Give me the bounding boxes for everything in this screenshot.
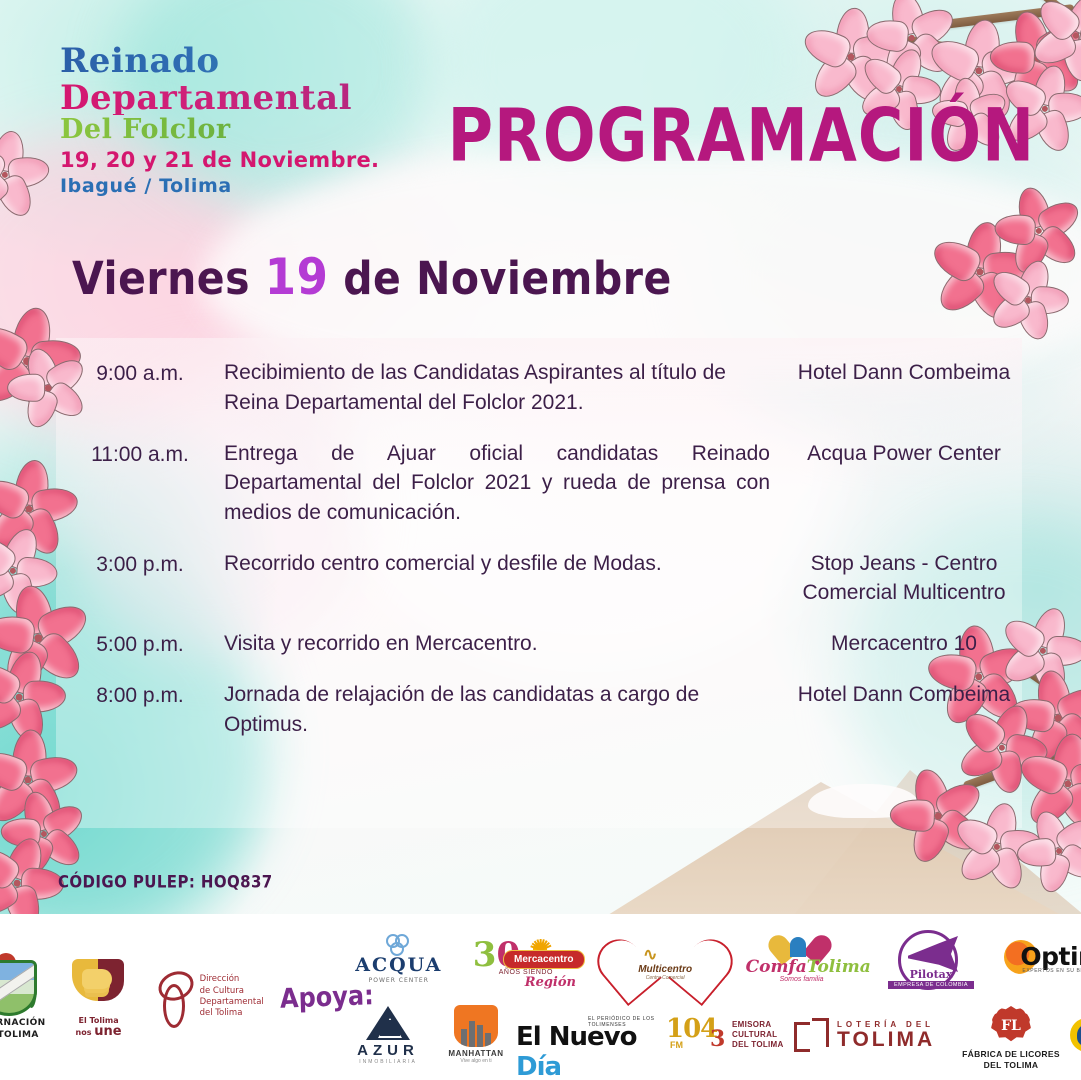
pilotax-slogan: EMPRESA DE COLOMBIA (888, 981, 974, 989)
acqua-name: ACQUA (355, 956, 442, 976)
sponsor-row-1: ACQUA POWER CENTER 30 Mercacentro AÑOS S… (340, 923, 1081, 995)
sponsor-acqua: ACQUA POWER CENTER (355, 934, 442, 984)
sponsor-mercacentro: 30 Mercacentro AÑOS SIENDO Región (473, 928, 585, 990)
schedule-time: 3:00 p.m. (56, 549, 224, 579)
day-suffix: de Noviembre (343, 252, 672, 305)
azur-name: AZUR (340, 1042, 436, 1059)
schedule-description: Entrega de Ajuar oficial candidatas Rein… (224, 439, 782, 528)
gobernacion-line1: GOBERNACIÓN (0, 1019, 46, 1028)
shield-icon (0, 954, 37, 1016)
logo-city: Ibagué / Tolima (60, 175, 379, 197)
schedule-description: Jornada de relajación de las candidatas … (224, 680, 782, 740)
schedule-venue: Hotel Dann Combeima (782, 680, 1026, 709)
sponsor-azur: AZUR INMOBILIARIA (340, 1006, 436, 1064)
gobernacion-line2: DEL TOLIMA (0, 1031, 39, 1040)
schedule-venue: Acqua Power Center (782, 439, 1026, 468)
poster-canvas: Reinado Departamental Del Folclor 19, 20… (0, 0, 1081, 1080)
logo-dates: 19, 20 y 21 de Noviembre. (60, 148, 379, 172)
pulep-code: CÓDIGO PULEP: HOQ837 (58, 872, 273, 892)
schedule-description: Recorrido centro comercial y desfile de … (224, 549, 782, 579)
event-logo: Reinado Departamental Del Folclor 19, 20… (60, 44, 379, 197)
une-line2: nos (76, 1028, 92, 1037)
manhattan-sub: Vive algo en ti (436, 1058, 516, 1064)
seal-icon: FL (991, 1006, 1031, 1046)
day-number: 19 (265, 248, 329, 306)
licores-line2: DEL TOLIMA (952, 1060, 1070, 1071)
sponsor-row-2: AZUR INMOBILIARIA MANHATTAN Vive algo en… (340, 999, 1081, 1071)
schedule-venue: Mercacentro 10 (782, 629, 1026, 658)
schedule-description: Recibimiento de las Candidatas Aspirante… (224, 358, 782, 418)
comfatolima-name: ComfaTolima (746, 957, 858, 977)
logo-line-departamental: Departamental (60, 81, 379, 116)
manhattan-name: MANHATTAN (436, 1049, 516, 1058)
sponsor-camara-comercio: CCI CAMARA DE COMERCIO DE IBAGUÉ TRABAJA… (1070, 1012, 1081, 1058)
radio-name: EMISORA CULTURAL DEL TOLIMA (732, 1020, 794, 1050)
schedule-row: 3:00 p.m.Recorrido centro comercial y de… (56, 549, 1026, 608)
sponsor-manhattan: MANHATTAN Vive algo en ti (436, 1005, 516, 1065)
tolima-une-text: El Tolima nos une (76, 1017, 122, 1039)
schedule-venue: Hotel Dann Combeima (782, 358, 1026, 387)
sponsor-emisora-cultural: 104 3 FM EMISORA CULTURAL DEL TOLIMA (666, 1010, 794, 1060)
logo-line-reinado: Reinado (60, 44, 379, 79)
mercacentro-rays-icon (523, 930, 559, 950)
dircult-line4: del Tolima (200, 1008, 264, 1019)
day-prefix: Viernes (72, 252, 250, 305)
une-line3: une (94, 1024, 121, 1039)
mercacentro-name: Mercacentro (503, 950, 585, 969)
comfatolima-slogan: Somos familia (746, 976, 858, 983)
schedule-row: 5:00 p.m.Visita y recorrido en Mercacent… (56, 629, 1026, 659)
sponsor-pilotax: Pilotax EMPRESA DE COLOMBIA (888, 928, 974, 990)
sponsor-comfatolima: ComfaTolima Somos familia (746, 931, 858, 987)
sponsor-loteria-tolima: LOTERÍA DEL TOLIMA (794, 1013, 952, 1057)
radio-frequency-decimal: 3 (710, 1026, 725, 1052)
loteria-text: LOTERÍA DEL TOLIMA (837, 1020, 935, 1050)
schedule-time: 9:00 a.m. (56, 358, 224, 388)
schedule-table: 9:00 a.m.Recibimiento de las Candidatas … (56, 358, 1026, 761)
schedule-row: 11:00 a.m.Entrega de Ajuar oficial candi… (56, 439, 1026, 528)
gobernacion-tolima-logo: GOBERNACIÓN DEL TOLIMA (0, 954, 46, 1041)
pilotax-name: Pilotax (888, 968, 974, 981)
schedule-time: 8:00 p.m. (56, 680, 224, 710)
azur-sub: INMOBILIARIA (340, 1059, 436, 1065)
dircult-line2: de Cultura (200, 986, 264, 997)
licores-name: FÁBRICA DE LICORES DEL TOLIMA (952, 1049, 1070, 1070)
comfa-part: Comfa (746, 957, 807, 977)
multicentro-name: Multicentro Centro Comercial (629, 964, 701, 981)
tolima-nos-une-logo: El Tolima nos une (70, 955, 128, 1039)
acqua-swirl-icon (386, 934, 412, 954)
building-shield-icon (454, 1005, 498, 1047)
nuevodia-dia: Día (516, 1052, 561, 1080)
schedule-venue: Stop Jeans - Centro Comercial Multicentr… (782, 549, 1026, 608)
multicentro-wave-icon: ∿ (643, 945, 657, 965)
logo-line-del-folclor: Del Folclor (60, 116, 379, 144)
licores-line1: FÁBRICA DE LICORES (952, 1049, 1070, 1060)
schedule-time: 11:00 a.m. (56, 439, 224, 469)
sponsor-fabrica-licores: FL FÁBRICA DE LICORES DEL TOLIMA (952, 1006, 1070, 1064)
radio-sub1: EMISORA CULTURAL (732, 1020, 794, 1040)
day-heading: Viernes 19 de Noviembre (72, 248, 672, 306)
nuevodia-el: El Nuevo (516, 1022, 636, 1052)
loteria-mark-icon (794, 1018, 830, 1052)
mercacentro-region: Región (525, 975, 576, 990)
radio-fm-label: FM (670, 1040, 683, 1050)
schedule-row: 9:00 a.m.Recibimiento de las Candidatas … (56, 358, 1026, 418)
ribbon-icon (152, 970, 194, 1024)
dircult-line1: Dirección (200, 974, 264, 985)
radio-sub2: DEL TOLIMA (732, 1040, 794, 1050)
schedule-description: Visita y recorrido en Mercacentro. (224, 629, 782, 659)
direccion-cultura-logo: Dirección de Cultura Departamental del T… (152, 970, 264, 1024)
nuevodia-name: El Nuevo Día (516, 1022, 666, 1080)
sponsor-footer: GOBERNACIÓN DEL TOLIMA El Tolima nos une (0, 914, 1081, 1080)
handshake-icon (70, 955, 128, 1015)
optimus-slogan: EXPERTOS EN SU BIENESTAR (1022, 968, 1081, 974)
loteria-line2: TOLIMA (837, 1029, 935, 1050)
sponsor-optimus: Optimus EXPERTOS EN SU BIENESTAR (1004, 934, 1081, 984)
institutional-logos: GOBERNACIÓN DEL TOLIMA El Tolima nos une (0, 954, 340, 1041)
schedule-time: 5:00 p.m. (56, 629, 224, 659)
direccion-cultura-text: Dirección de Cultura Departamental del T… (200, 974, 264, 1020)
sponsor-logos: ACQUA POWER CENTER 30 Mercacentro AÑOS S… (340, 923, 1081, 1071)
optimus-name: Optimus (1020, 942, 1081, 971)
azur-triangle-icon (366, 1006, 410, 1040)
sponsor-multicentro: ∿ Multicentro Centro Comercial (615, 928, 715, 990)
schedule-row: 8:00 p.m.Jornada de relajación de las ca… (56, 680, 1026, 740)
tolima-part: Tolima (807, 957, 871, 977)
multicentro-label: Multicentro (638, 964, 692, 975)
dircult-line3: Departamental (200, 997, 264, 1008)
page-title: PROGRAMACIÓN (448, 92, 1035, 178)
camara-face-icon (1070, 1018, 1081, 1052)
sponsor-el-nuevo-dia: EL PERIÓDICO DE LOS TOLIMENSES El Nuevo … (516, 1015, 666, 1055)
multicentro-sub: Centro Comercial (629, 975, 701, 981)
